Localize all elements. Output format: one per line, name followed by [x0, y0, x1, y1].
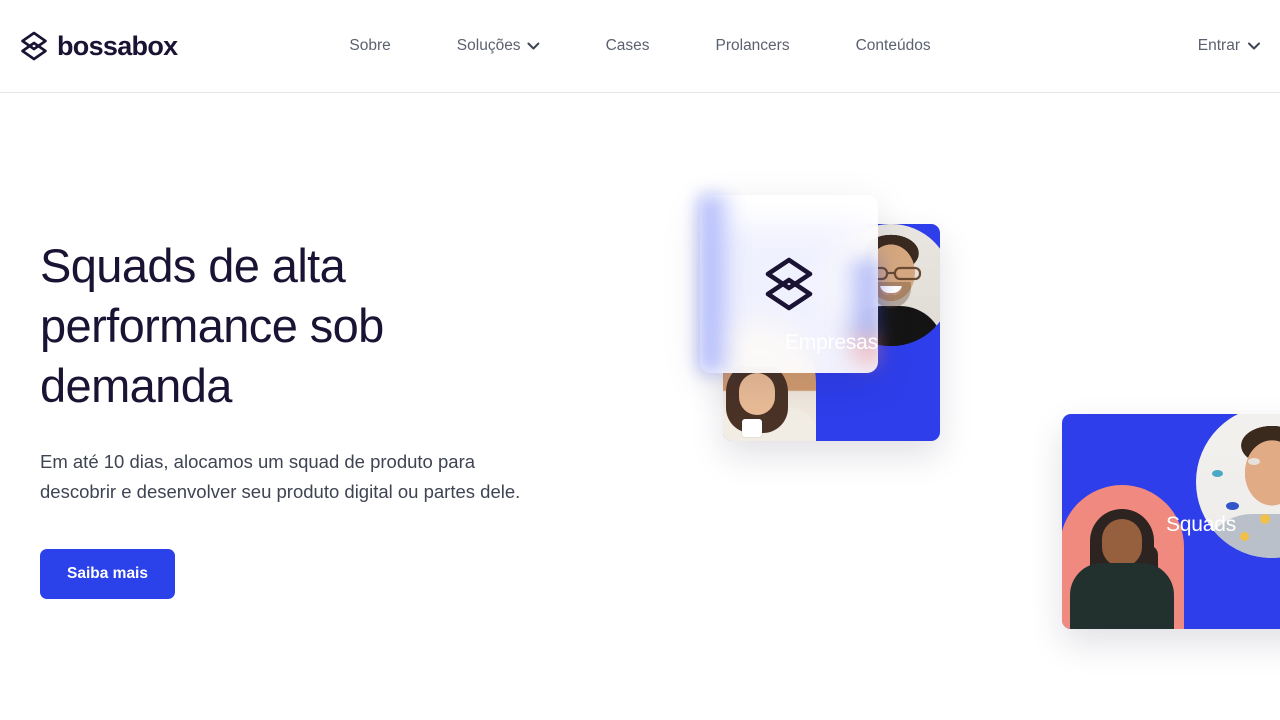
- young-man-confetti-photo: [1196, 414, 1280, 558]
- chevron-down-icon: [528, 42, 540, 50]
- collage-card-squads[interactable]: Squads: [1062, 414, 1280, 629]
- brand-name: bossabox: [57, 33, 177, 60]
- woman-pink-background-photo: [1062, 485, 1184, 629]
- nav-item-conteudos[interactable]: Conteúdos: [823, 31, 964, 61]
- bossabox-diamond-icon: [20, 31, 48, 61]
- saiba-mais-button[interactable]: Saiba mais: [40, 549, 175, 599]
- mug-shape: [742, 419, 762, 437]
- nav-item-label: Prolancers: [716, 37, 790, 55]
- nav-item-cases[interactable]: Cases: [573, 31, 683, 61]
- face-shape: [739, 373, 775, 415]
- chevron-down-icon: [1248, 42, 1260, 50]
- main-navigation: Sobre Soluções Cases Prolancers Conteúdo…: [316, 31, 963, 61]
- nav-item-sobre[interactable]: Sobre: [316, 31, 423, 61]
- nav-item-prolancers[interactable]: Prolancers: [683, 31, 823, 61]
- top-shape: [1070, 563, 1174, 629]
- face-shape: [1102, 519, 1142, 567]
- site-header: bossabox Sobre Soluções Cases Prolancers…: [0, 0, 1280, 93]
- nav-item-label: Soluções: [457, 37, 521, 55]
- hero-subtitle: Em até 10 dias, alocamos um squad de pro…: [40, 447, 555, 507]
- brand-logo-link[interactable]: bossabox: [20, 31, 177, 61]
- glass-blur-right: [838, 259, 878, 341]
- page-title: Squads de alta performance sob demanda: [40, 236, 470, 416]
- bossabox-diamond-icon: [763, 256, 815, 312]
- collage-card-logo[interactable]: [700, 195, 878, 373]
- confetti-dot: [1212, 470, 1223, 477]
- nav-item-label: Cases: [606, 37, 650, 55]
- hero-image-collage: Empresas Squads: [700, 195, 1280, 675]
- login-label: Entrar: [1198, 37, 1240, 55]
- glass-blur-bottom-right: [840, 334, 878, 366]
- confetti-dot: [1260, 514, 1270, 524]
- landing-page: bossabox Sobre Soluções Cases Prolancers…: [0, 0, 1280, 720]
- confetti-dot: [1226, 502, 1239, 510]
- nav-item-label: Sobre: [349, 37, 390, 55]
- confetti-dot: [1240, 532, 1249, 541]
- glass-blur-left: [700, 195, 738, 373]
- hero-section: Squads de alta performance sob demanda E…: [40, 236, 600, 599]
- confetti-dot: [1248, 458, 1260, 465]
- nav-item-label: Conteúdos: [856, 37, 931, 55]
- nav-item-solucoes[interactable]: Soluções: [424, 31, 573, 61]
- login-menu[interactable]: Entrar: [1198, 37, 1260, 55]
